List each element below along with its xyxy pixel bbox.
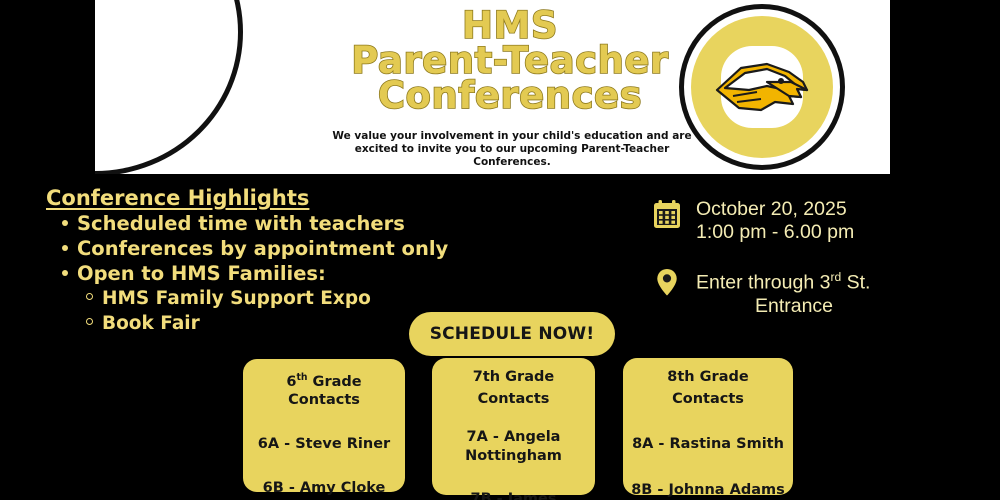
- location-text: Enter through 3rd St. Entrance: [696, 266, 892, 318]
- title-line-2: Parent-Teacher: [300, 43, 720, 78]
- location-line-2: Entrance: [696, 295, 892, 318]
- location-pre: Enter through 3: [696, 272, 830, 294]
- poster-title: HMS Parent-Teacher Conferences: [300, 8, 720, 113]
- bullet-circle-icon: [86, 318, 93, 325]
- event-time: 1:00 pm - 6.00 pm: [696, 221, 854, 244]
- card-title-pre: 7th Grade Contacts: [473, 369, 554, 407]
- date-time-text: October 20, 2025 1:00 pm - 6.00 pm: [696, 198, 854, 244]
- contact-entry: 7B - James Cooper: [440, 490, 587, 500]
- grade-contacts-card-7[interactable]: 7th Grade Contacts 7A - Angela Nottingha…: [432, 358, 595, 495]
- date-time-row: October 20, 2025 1:00 pm - 6.00 pm: [652, 198, 982, 244]
- location-line-1: Enter through 3rd St.: [696, 266, 892, 295]
- card-title: 6th Grade Contacts: [251, 369, 397, 409]
- contact-entry: 6A - Steve Riner: [251, 435, 397, 454]
- card-title: 8th Grade Contacts: [631, 368, 785, 408]
- eagle-head-icon: [711, 56, 813, 118]
- bullet-circle-icon: [86, 293, 93, 300]
- decorative-circle-arc: [95, 0, 243, 174]
- highlights-list: Scheduled time with teachers Conferences…: [62, 211, 526, 286]
- poster-subtitle: We value your involvement in your child'…: [327, 130, 697, 169]
- list-item: Scheduled time with teachers: [62, 211, 526, 236]
- card-title: 7th Grade Contacts: [440, 368, 587, 408]
- highlight-text: Open to HMS Families:: [77, 261, 326, 286]
- title-line-3: Conferences: [300, 78, 720, 113]
- list-item: HMS Family Support Expo: [86, 286, 526, 311]
- sub-highlight-text: HMS Family Support Expo: [102, 286, 371, 311]
- title-line-1: HMS: [300, 8, 720, 43]
- location-ordinal: rd: [830, 270, 841, 284]
- contact-entry: 8A - Rastina Smith: [631, 435, 785, 454]
- contact-entry: 7A - Angela Nottingham: [440, 428, 587, 466]
- bullet-dot-icon: [62, 270, 68, 276]
- list-item: Conferences by appointment only: [62, 236, 526, 261]
- grade-contacts-card-8[interactable]: 8th Grade Contacts 8A - Rastina Smith 8B…: [623, 358, 793, 495]
- location-post: St.: [841, 272, 870, 294]
- grade-contacts-card-6[interactable]: 6th Grade Contacts 6A - Steve Riner 6B -…: [243, 359, 405, 492]
- bullet-dot-icon: [62, 245, 68, 251]
- location-row: Enter through 3rd St. Entrance: [652, 266, 982, 318]
- card-title-ordinal: th: [296, 372, 307, 383]
- sub-highlight-text: Book Fair: [102, 311, 200, 336]
- highlight-text: Scheduled time with teachers: [77, 211, 405, 236]
- poster-flyer: HMS Parent-Teacher Conferences We value …: [0, 0, 1000, 500]
- calendar-icon: [652, 198, 682, 230]
- list-item: Open to HMS Families:: [62, 261, 526, 286]
- bullet-dot-icon: [62, 220, 68, 226]
- event-info-section: October 20, 2025 1:00 pm - 6.00 pm Enter…: [652, 198, 982, 318]
- map-pin-icon: [652, 266, 682, 298]
- event-date: October 20, 2025: [696, 198, 854, 221]
- highlight-text: Conferences by appointment only: [77, 236, 448, 261]
- card-title-pre: 6: [286, 374, 296, 390]
- contact-entry: 8B - Johnna Adams: [631, 481, 785, 500]
- card-title-pre: 8th Grade Contacts: [667, 369, 748, 407]
- highlights-title: Conference Highlights: [46, 186, 526, 210]
- school-logo: [679, 4, 845, 170]
- header-banner: HMS Parent-Teacher Conferences We value …: [95, 0, 890, 174]
- schedule-now-button[interactable]: SCHEDULE NOW!: [409, 312, 615, 356]
- contact-entry: 6B - Amy Cloke: [251, 479, 397, 498]
